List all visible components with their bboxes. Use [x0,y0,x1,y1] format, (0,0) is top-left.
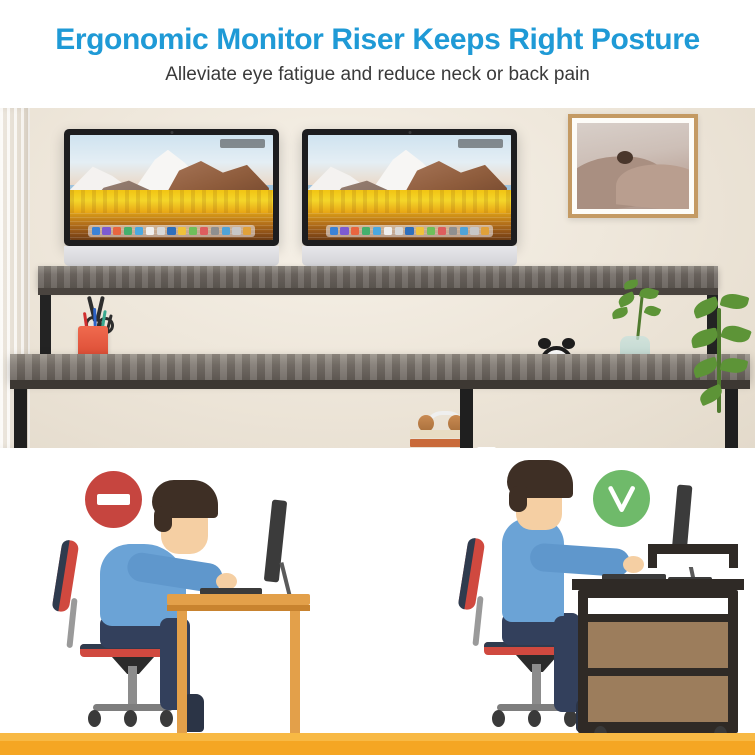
left-monitor-bezel [64,129,279,246]
illus-desk-leg [290,611,300,733]
dock-icon [340,227,348,235]
page-title: Ergonomic Monitor Riser Keeps Right Post… [0,23,755,57]
screen-dock [326,225,492,237]
illus-riser-gap [656,554,730,567]
dock-icon [146,227,154,235]
person-hair-side [154,506,172,532]
floor-plant-leaf [720,355,749,375]
dock-icon [200,227,208,235]
check-icon [604,481,639,516]
chair-backrest-shadow [51,539,69,611]
chair-caster [124,710,137,727]
right-monitor-screen [308,135,511,240]
illus-riser-leg [729,554,738,568]
floor-plant-leaf [720,322,752,347]
dock-icon [481,227,489,235]
illus-cabinet-drawer [588,622,728,668]
wall-art-subject [617,151,633,164]
floor-highlight [0,733,755,741]
right-monitor [302,129,517,246]
illus-riser-leg [648,554,657,568]
dock-icon [470,227,478,235]
dock-icon [178,227,186,235]
dock-icon [362,227,370,235]
floor-plant-leaf [690,327,720,348]
dock-icon [222,227,230,235]
dock-icon [351,227,359,235]
floor-plant-leaf [691,357,719,379]
dock-icon [416,227,424,235]
riser-leg-left [40,295,51,355]
bad-posture-panel [0,448,375,755]
header-section: Ergonomic Monitor Riser Keeps Right Post… [0,0,755,108]
left-monitor-screen [70,135,273,240]
screen-dock [88,225,254,237]
illus-desk-leg [177,611,187,733]
dock-icon [460,227,468,235]
desk-surface [10,354,750,380]
product-photo: EPSON [0,108,755,448]
chair-backrest-shadow [457,537,475,609]
screen-menubar [220,139,265,147]
chair-caster [160,710,173,727]
check-badge [593,470,650,527]
monitor-riser-shelf-edge [38,288,718,295]
monitor-riser-shelf [38,266,718,288]
illus-riser-top [648,544,738,554]
dock-icon [167,227,175,235]
illus-cabinet-slot [588,598,728,614]
desk-leg-mid [460,389,473,448]
no-badge-bar [97,494,130,504]
screen-menubar [458,139,503,147]
webcam-icon [170,131,173,134]
dock-icon [330,227,338,235]
chair-post [532,664,541,706]
dock-icon [438,227,446,235]
illus-desk-lip [167,605,310,611]
posture-comparison-illustration [0,448,755,755]
wall-art-canvas [577,123,689,209]
dock-icon [92,227,100,235]
dock-icon [384,227,392,235]
illus-desk-top [167,594,310,605]
webcam-icon [408,131,411,134]
floor-plant-leaf [720,291,750,312]
wallpaper-foliage [70,190,273,213]
left-monitor [64,129,279,246]
left-monitor-chin [64,246,279,266]
dock-icon [113,227,121,235]
dock-icon [449,227,457,235]
dock-icon [373,227,381,235]
person-hand [623,556,644,573]
wallpaper-foliage [308,190,511,213]
person-hair-side [509,486,527,512]
illus-desk-top [572,579,744,590]
right-monitor-bezel [302,129,517,246]
desk-leg-left [14,389,27,448]
dock-icon [157,227,165,235]
chair-caster [492,710,505,727]
dock-icon [395,227,403,235]
floor-plant [691,278,755,428]
product-feature-page: Ergonomic Monitor Riser Keeps Right Post… [0,0,755,755]
dock-icon [243,227,251,235]
chair-caster [88,710,101,727]
illus-cabinet-drawer [588,676,728,722]
right-monitor-chin [302,246,517,266]
dock-icon [124,227,132,235]
dock-icon [427,227,435,235]
wall-art [568,114,698,218]
page-subtitle: Alleviate eye fatigue and reduce neck or… [0,64,755,86]
dock-icon [232,227,240,235]
dock-icon [405,227,413,235]
dock-icon [102,227,110,235]
chair-post [128,666,137,706]
dock-icon [189,227,197,235]
dock-icon [211,227,219,235]
good-posture-panel [380,448,755,755]
floor-strip [0,733,755,755]
no-badge [85,471,142,528]
chair-caster [528,710,541,727]
dock-icon [135,227,143,235]
desk-edge [10,380,750,389]
